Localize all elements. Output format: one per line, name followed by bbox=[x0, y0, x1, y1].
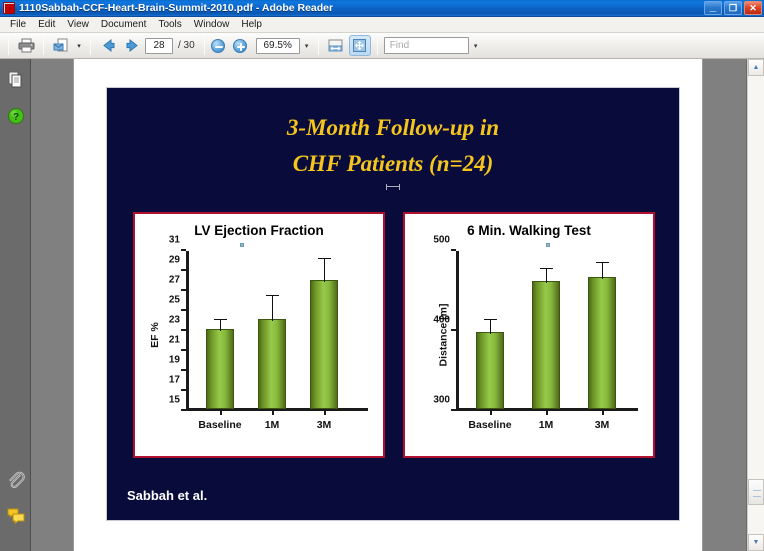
scroll-up-button[interactable]: ▲ bbox=[748, 59, 764, 76]
email-document-button[interactable] bbox=[50, 35, 72, 56]
navigation-pane: ? bbox=[0, 59, 31, 551]
menu-window[interactable]: Window bbox=[188, 18, 236, 31]
toolbar-divider bbox=[318, 37, 319, 55]
zoom-level-input[interactable]: 69.5% bbox=[256, 38, 300, 54]
slide-footer-citation: Sabbah et al. bbox=[127, 488, 207, 503]
bar-3m-right bbox=[588, 277, 616, 409]
restore-button[interactable]: ❐ bbox=[724, 1, 742, 15]
slide-title-marker bbox=[386, 184, 400, 190]
error-cap bbox=[540, 268, 553, 269]
help-panel-icon[interactable]: ? bbox=[6, 106, 26, 126]
close-icon: ✕ bbox=[745, 2, 761, 14]
zoom-in-button[interactable] bbox=[233, 39, 247, 53]
email-dropdown-icon[interactable]: ▾ bbox=[74, 35, 84, 56]
y-tick bbox=[181, 309, 186, 311]
x-tick bbox=[220, 411, 222, 415]
pages-panel-icon[interactable] bbox=[6, 70, 26, 90]
y-axis-title-right: Distance [m] bbox=[438, 303, 450, 366]
zoom-dropdown-icon[interactable]: ▾ bbox=[302, 35, 312, 56]
page-number-input[interactable]: 28 bbox=[145, 38, 173, 54]
fit-page-button[interactable] bbox=[349, 35, 371, 56]
y-tick bbox=[451, 329, 456, 331]
slide-content: 3-Month Follow-up in CHF Patients (n=24)… bbox=[106, 87, 680, 521]
x-tick-label: 1M bbox=[265, 419, 280, 431]
y-tick-label: 27 bbox=[169, 275, 180, 286]
y-axis-left bbox=[186, 251, 189, 411]
adobe-reader-window: 1110Sabbah-CCF-Heart-Brain-Summit-2010.p… bbox=[0, 0, 764, 551]
y-tick-label: 19 bbox=[169, 355, 180, 366]
toolbar-divider bbox=[377, 37, 378, 55]
y-tick-label: 21 bbox=[169, 335, 180, 346]
document-viewport[interactable]: 3-Month Follow-up in CHF Patients (n=24)… bbox=[31, 59, 747, 551]
y-tick-label: 29 bbox=[169, 255, 180, 266]
error-bar bbox=[324, 259, 325, 282]
attachments-panel-icon[interactable] bbox=[6, 470, 26, 490]
close-button[interactable]: ✕ bbox=[744, 1, 762, 15]
x-tick-label: Baseline bbox=[468, 419, 511, 431]
y-axis-right bbox=[456, 251, 459, 411]
y-tick bbox=[181, 329, 186, 331]
menu-tools[interactable]: Tools bbox=[152, 18, 187, 31]
y-tick-label: 300 bbox=[433, 395, 450, 406]
slide-title: 3-Month Follow-up in CHF Patients (n=24) bbox=[107, 110, 679, 182]
email-document-icon bbox=[53, 38, 70, 53]
window-title: 1110Sabbah-CCF-Heart-Brain-Summit-2010.p… bbox=[19, 2, 704, 14]
minimize-button[interactable]: _ bbox=[704, 1, 722, 15]
menu-edit[interactable]: Edit bbox=[32, 18, 61, 31]
y-tick-label: 31 bbox=[169, 235, 180, 246]
arrow-right-icon bbox=[124, 38, 141, 53]
toolbar-divider bbox=[90, 37, 91, 55]
significance-marker-left bbox=[240, 243, 244, 247]
x-tick bbox=[272, 411, 274, 415]
plot-area-right: 300 400 500 bbox=[456, 251, 638, 411]
x-tick bbox=[324, 411, 326, 415]
error-bar bbox=[220, 320, 221, 331]
arrow-left-icon bbox=[100, 38, 117, 53]
y-tick bbox=[181, 369, 186, 371]
restore-icon: ❐ bbox=[725, 2, 741, 14]
x-tick bbox=[602, 411, 604, 415]
bar-3m-left bbox=[310, 280, 338, 409]
y-tick bbox=[451, 409, 456, 411]
find-dropdown-icon[interactable]: ▾ bbox=[471, 35, 481, 56]
menu-help[interactable]: Help bbox=[235, 18, 268, 31]
toolbar-divider bbox=[8, 37, 9, 55]
toolbar: ▾ 28 / 30 69.5% ▾ bbox=[0, 33, 764, 59]
page-total-label: / 30 bbox=[178, 40, 195, 51]
x-tick-label: Baseline bbox=[198, 419, 241, 431]
significance-marker-right bbox=[546, 243, 550, 247]
slide-title-line-1: 3-Month Follow-up in bbox=[107, 110, 679, 146]
error-bar bbox=[490, 320, 491, 334]
find-input[interactable]: Find bbox=[384, 37, 469, 54]
toolbar-divider bbox=[204, 37, 205, 55]
bar-baseline-right bbox=[476, 332, 504, 409]
bar-baseline-left bbox=[206, 329, 234, 409]
x-tick bbox=[546, 411, 548, 415]
error-cap bbox=[266, 295, 279, 296]
x-tick-label: 3M bbox=[317, 419, 332, 431]
fit-width-button[interactable] bbox=[325, 35, 347, 56]
slide-title-line-2: CHF Patients (n=24) bbox=[107, 146, 679, 182]
scrollbar-thumb[interactable] bbox=[748, 479, 764, 505]
window-controls: _ ❐ ✕ bbox=[704, 1, 762, 15]
vertical-scrollbar[interactable]: ▲ ▼ bbox=[747, 59, 764, 551]
x-tick-label: 3M bbox=[595, 419, 610, 431]
error-bar bbox=[546, 269, 547, 283]
scroll-down-button[interactable]: ▼ bbox=[748, 534, 764, 551]
error-cap bbox=[596, 262, 609, 263]
chart-lv-ejection-fraction: LV Ejection Fraction 15 17 19 bbox=[133, 212, 385, 458]
chart-6min-walking-test: 6 Min. Walking Test 300 400 500 bbox=[403, 212, 655, 458]
previous-page-button[interactable] bbox=[97, 35, 119, 56]
y-tick bbox=[181, 289, 186, 291]
y-tick bbox=[181, 269, 186, 271]
pdf-document-icon bbox=[3, 2, 15, 14]
menu-document[interactable]: Document bbox=[95, 18, 153, 31]
menu-bar: File Edit View Document Tools Window Hel… bbox=[0, 17, 764, 33]
y-tick bbox=[181, 249, 186, 251]
y-tick-label: 25 bbox=[169, 295, 180, 306]
x-tick bbox=[490, 411, 492, 415]
title-bar: 1110Sabbah-CCF-Heart-Brain-Summit-2010.p… bbox=[0, 0, 764, 17]
y-tick-label: 17 bbox=[169, 375, 180, 386]
y-tick-label: 15 bbox=[169, 395, 180, 406]
comments-panel-icon[interactable] bbox=[6, 506, 26, 526]
menu-file[interactable]: File bbox=[4, 18, 32, 31]
menu-view[interactable]: View bbox=[61, 18, 95, 31]
error-cap bbox=[318, 258, 331, 259]
error-bar bbox=[272, 296, 273, 321]
fit-page-icon bbox=[351, 38, 368, 53]
bar-1m-right bbox=[532, 281, 560, 409]
y-tick bbox=[181, 409, 186, 411]
error-bar bbox=[602, 263, 603, 279]
bar-1m-left bbox=[258, 319, 286, 409]
y-tick-label: 500 bbox=[433, 235, 450, 246]
next-page-button[interactable] bbox=[121, 35, 143, 56]
y-axis-title-left: EF % bbox=[149, 322, 161, 348]
error-cap bbox=[484, 319, 497, 320]
printer-icon bbox=[18, 38, 35, 53]
zoom-out-button[interactable] bbox=[211, 39, 225, 53]
toolbar-divider bbox=[43, 37, 44, 55]
y-tick bbox=[181, 349, 186, 351]
minimize-icon: _ bbox=[705, 2, 721, 14]
svg-text:?: ? bbox=[13, 112, 19, 123]
x-tick-label: 1M bbox=[539, 419, 554, 431]
plot-area-left: 15 17 19 21 23 25 27 bbox=[186, 251, 368, 411]
pdf-page: 3-Month Follow-up in CHF Patients (n=24)… bbox=[74, 59, 702, 551]
fit-width-icon bbox=[327, 38, 344, 53]
y-tick bbox=[451, 249, 456, 251]
y-tick bbox=[181, 389, 186, 391]
print-button[interactable] bbox=[15, 35, 37, 56]
y-tick-label: 23 bbox=[169, 315, 180, 326]
error-cap bbox=[214, 319, 227, 320]
